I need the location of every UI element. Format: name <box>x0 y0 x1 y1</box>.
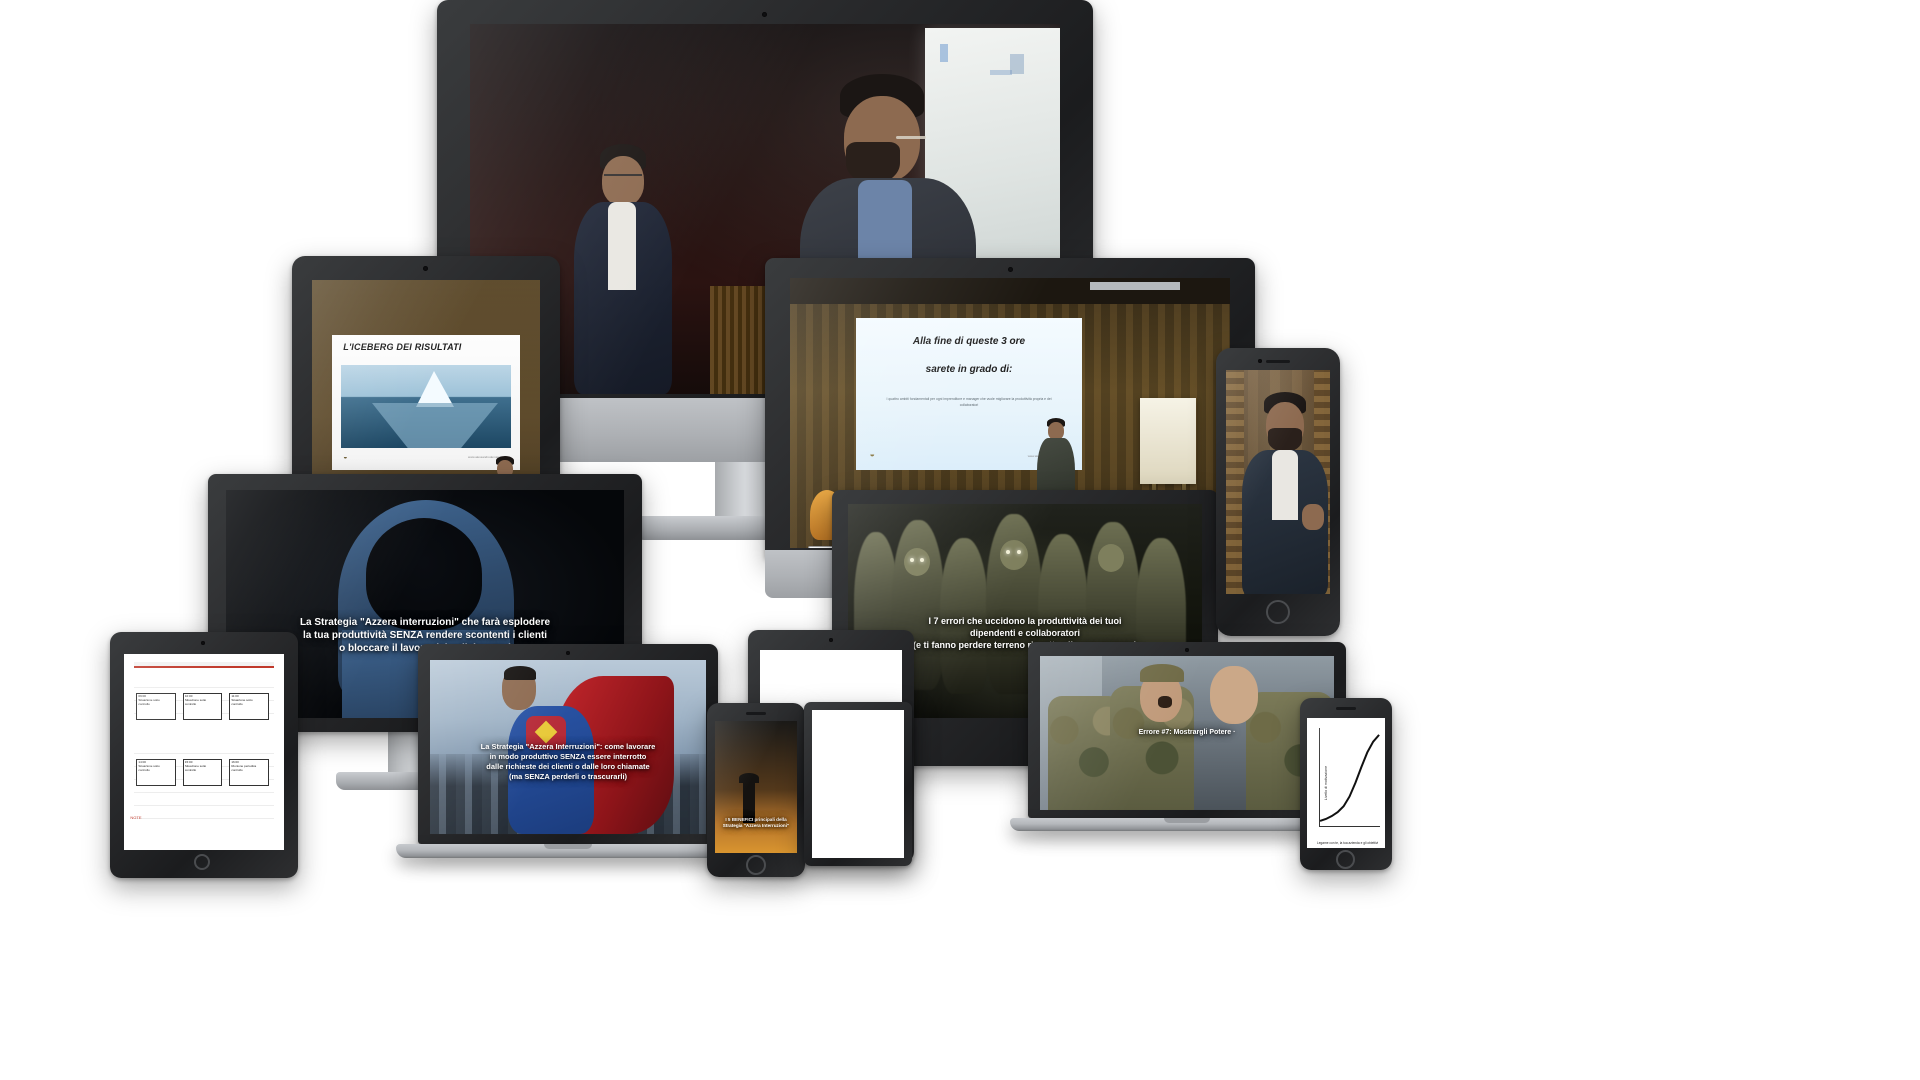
iphone-selfie-camera-icon <box>1258 359 1262 363</box>
phone-chart-screen[interactable]: Livello di motivazione Legame con te, la… <box>1307 718 1385 848</box>
worksheet-header <box>134 662 275 668</box>
phone-choice-screen[interactable]: Rimane in azienda Tutto è guadagnato! Lo… <box>812 710 904 858</box>
superman-caption-line-1: La Strategia "Azzera Interruzioni": come… <box>441 742 695 752</box>
scene-benefici <box>715 721 797 853</box>
worksheet-rows: 09:00Situazione sottocontrollo 10:00Situ… <box>134 674 275 839</box>
speaker-person-left <box>570 144 690 394</box>
slide-goals-body: I quattro ambiti fondamentali per ogni i… <box>879 397 1060 409</box>
hoodie-caption-line-1: La Strategia "Azzera interruzioni" che f… <box>242 616 608 629</box>
phone-chart-home-button[interactable] <box>1336 850 1355 869</box>
superman-caption-line-2: in modo produttivo SENZA essere interrot… <box>441 752 695 762</box>
slide-goals-logo-icon: ◒ <box>870 449 875 459</box>
imac-camera-icon <box>762 12 767 17</box>
phone-chart-speaker <box>1336 707 1356 710</box>
laptop-military-camera-icon <box>1185 648 1189 652</box>
chart-x-axis-label: Legame con te, la tua azienda e gli obie… <box>1313 841 1382 845</box>
worksheet-note-label: NOTE <box>130 815 141 820</box>
slide-iceberg-photo <box>341 365 510 449</box>
phone-choice-gloss <box>812 710 904 858</box>
tablet-planner-home-button[interactable] <box>194 854 210 870</box>
device-phone-benefici[interactable]: I 5 BENEFICI principali della Strategia … <box>707 703 805 877</box>
iphone-selfie-home-button[interactable] <box>1266 600 1290 624</box>
superman-caption: La Strategia "Azzera Interruzioni": come… <box>441 742 695 782</box>
worksheet-document: 09:00Situazione sottocontrollo 10:00Situ… <box>124 654 284 850</box>
worksheet-cell: 14:00Situazione sottocontrollo <box>136 759 175 785</box>
benefici-caption: I 5 BENEFICI principali della Strategia … <box>718 817 793 829</box>
laptop-superman-camera-icon <box>566 651 570 655</box>
worksheet-cell: 09:00Situazione sottocontrollo <box>136 693 175 719</box>
tablet-planner-camera-icon <box>201 641 205 645</box>
laptop-military-screen[interactable]: Errore #7: Mostrargli Potere · <box>1040 656 1334 810</box>
device-laptop-military[interactable]: Errore #7: Mostrargli Potere · <box>1028 642 1346 842</box>
device-phone-choice[interactable]: Rimane in azienda Tutto è guadagnato! Lo… <box>804 702 912 866</box>
device-laptop-superman[interactable]: La Strategia "Azzera Interruzioni": come… <box>418 644 718 872</box>
superman-caption-line-3: dalle richieste dei clienti o dalle loro… <box>441 762 695 772</box>
mockup-stage: L'ICEBERG DEI RISULTATI ◒ www.alessandro… <box>0 0 1920 1080</box>
selfie-person <box>1246 392 1322 594</box>
worksheet-cell: 11:00Situazione sottocontrollo <box>229 693 268 719</box>
laptop-superman-screen[interactable]: La Strategia "Azzera Interruzioni": come… <box>430 660 706 834</box>
device-iphone-selfie[interactable] <box>1216 348 1340 636</box>
device-tablet-planner[interactable]: 09:00Situazione sottocontrollo 10:00Situ… <box>110 632 298 878</box>
tablet-iceberg-camera-icon <box>423 266 428 271</box>
slide-iceberg: L'ICEBERG DEI RISULTATI ◒ www.alessandro… <box>332 335 520 470</box>
chart-line-series <box>1320 728 1379 826</box>
phone-benefici-screen[interactable]: I 5 BENEFICI principali della Strategia … <box>715 721 797 853</box>
iphone-selfie-screen[interactable] <box>1226 370 1330 594</box>
imac2-camera-icon <box>1008 267 1013 272</box>
benefici-caption-line-2: Strategia "Azzera Interruzioni" <box>718 823 793 829</box>
worksheet-cell: 16:00Riunione periodicacontrollo <box>229 759 268 785</box>
military-caption: Errore #7: Mostrargli Potere · <box>1052 728 1323 737</box>
slide-iceberg-title: L'ICEBERG DEI RISULTATI <box>343 342 508 352</box>
worksheet-cell: 15:00Situazione sottocontrollo <box>183 759 222 785</box>
phone-benefici-home-button[interactable] <box>746 855 766 875</box>
slide-goals-line1: Alla fine di queste 3 ore <box>872 336 1066 347</box>
laptop-superman-notch <box>544 844 592 849</box>
slide-iceberg-logo-icon: ◒ <box>343 454 347 461</box>
slide-goals-line2: sarete in grado di: <box>872 364 1066 375</box>
motivation-chart: Livello di motivazione Legame con te, la… <box>1307 718 1385 848</box>
zombie-caption-line-1: I 7 errori che uccidono la produttività … <box>862 616 1188 628</box>
tablet-errore3-camera-icon <box>829 638 833 642</box>
worksheet-cell: 10:00Situazione sottocontrollo <box>183 693 222 719</box>
chart-plot-area <box>1319 728 1379 827</box>
iphone-selfie-speaker <box>1266 360 1290 363</box>
tablet-planner-screen[interactable]: 09:00Situazione sottocontrollo 10:00Situ… <box>124 654 284 850</box>
device-phone-chart[interactable]: Livello di motivazione Legame con te, la… <box>1300 698 1392 870</box>
laptop-military-notch <box>1164 818 1210 823</box>
superman-caption-line-4: (ma SENZA perderli o trascurarli) <box>441 772 695 782</box>
scene-selfie-room <box>1226 370 1330 594</box>
phone-benefici-speaker <box>746 712 766 715</box>
